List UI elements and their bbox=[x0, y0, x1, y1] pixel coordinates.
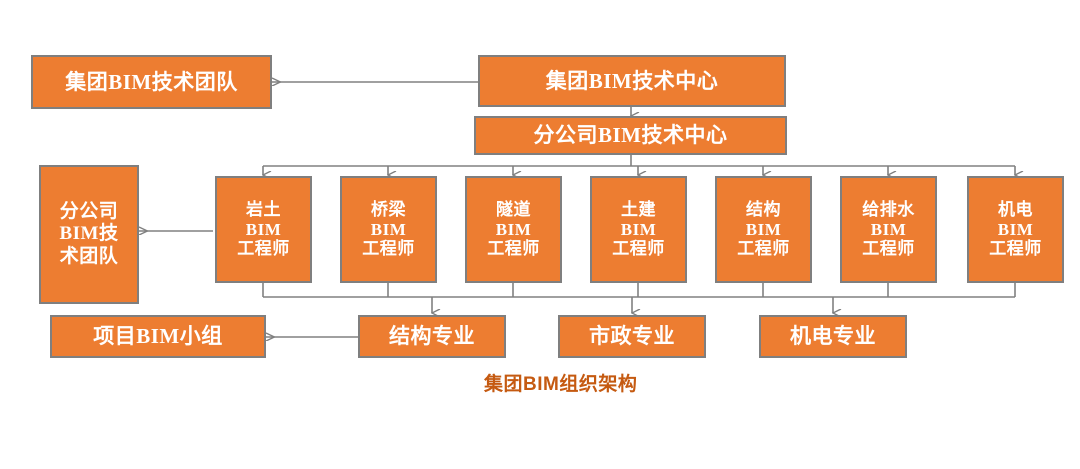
org-chart-diagram: 集团BIM技术团队 集团BIM技术中心 分公司BIM技术中心 分公司 BIM技 … bbox=[0, 0, 1080, 469]
node-engineer-bridge[interactable]: 桥梁 BIM 工程师 bbox=[340, 176, 437, 283]
node-branch-bim-team[interactable]: 分公司 BIM技 术团队 bbox=[39, 165, 139, 304]
node-engineer-structure[interactable]: 结构 BIM 工程师 bbox=[715, 176, 812, 283]
node-group-bim-team[interactable]: 集团BIM技术团队 bbox=[31, 55, 272, 109]
node-engineer-plumbing[interactable]: 给排水 BIM 工程师 bbox=[840, 176, 937, 283]
node-engineer-tunnel[interactable]: 隧道 BIM 工程师 bbox=[465, 176, 562, 283]
node-discipline-municipal[interactable]: 市政专业 bbox=[558, 315, 706, 358]
node-engineer-geotech[interactable]: 岩土 BIM 工程师 bbox=[215, 176, 312, 283]
node-discipline-structure[interactable]: 结构专业 bbox=[358, 315, 506, 358]
node-engineer-civil[interactable]: 土建 BIM 工程师 bbox=[590, 176, 687, 283]
node-group-bim-center[interactable]: 集团BIM技术中心 bbox=[478, 55, 786, 107]
node-engineer-mep[interactable]: 机电 BIM 工程师 bbox=[967, 176, 1064, 283]
node-branch-bim-center[interactable]: 分公司BIM技术中心 bbox=[474, 116, 787, 155]
node-project-bim-group[interactable]: 项目BIM小组 bbox=[50, 315, 266, 358]
node-discipline-mep[interactable]: 机电专业 bbox=[759, 315, 907, 358]
diagram-caption: 集团BIM组织架构 bbox=[484, 369, 637, 396]
